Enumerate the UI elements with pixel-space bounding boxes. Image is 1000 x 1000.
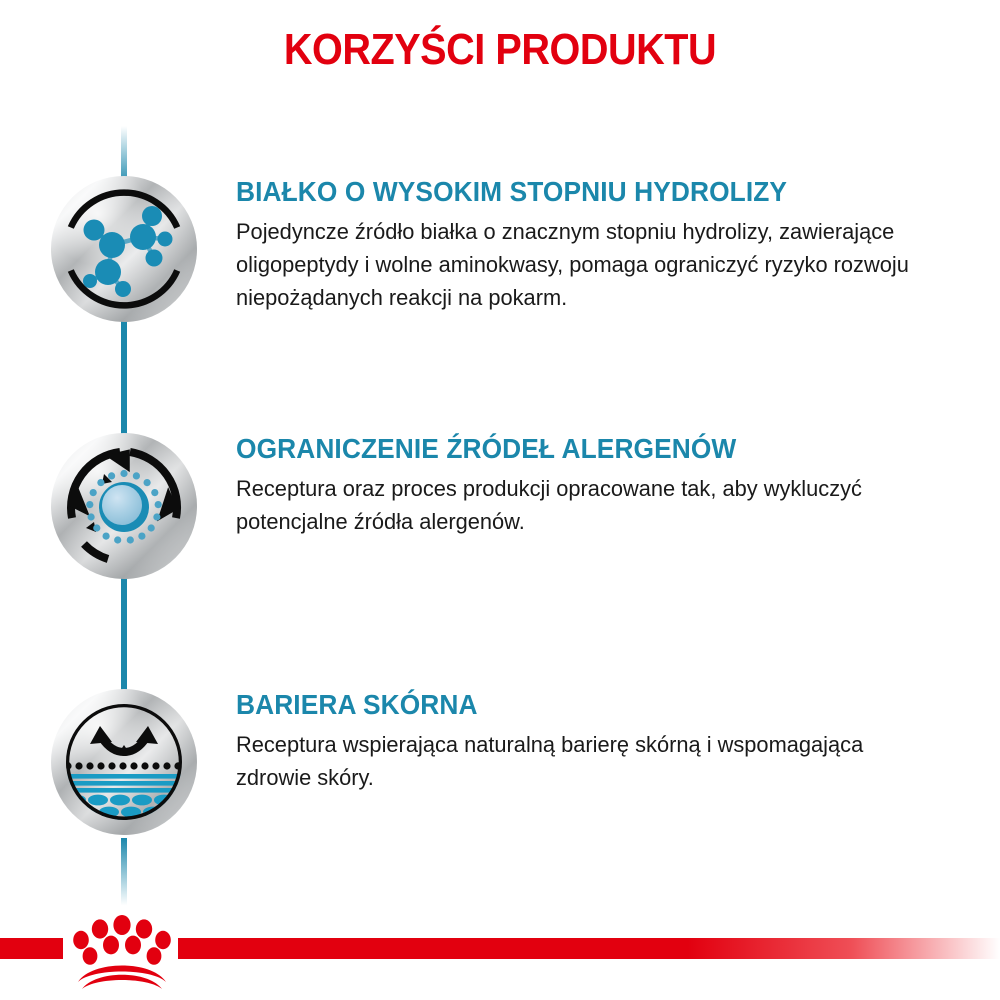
benefit-text-2: OGRANICZENIE ŹRÓDEŁ ALERGENÓW Receptura …	[236, 432, 960, 538]
molecule-icon	[50, 175, 198, 323]
footer-bar-right	[178, 938, 1000, 959]
connector-line-1	[121, 318, 127, 446]
benefit-heading-1: BIAŁKO O WYSOKIM STOPNIU HYDROLIZY	[236, 175, 917, 209]
benefit-text-1: BIAŁKO O WYSOKIM STOPNIU HYDROLIZY Pojed…	[236, 175, 960, 314]
royal-canin-crown-logo	[66, 912, 178, 990]
skin-barrier-icon	[50, 688, 198, 836]
page-title: KORZYŚCI PRODUKTU	[50, 24, 950, 76]
connector-line-2	[121, 578, 127, 703]
connector-line-bottom	[121, 838, 127, 913]
benefit-heading-2: OGRANICZENIE ŹRÓDEŁ ALERGENÓW	[236, 432, 917, 466]
allergen-reduction-icon	[50, 432, 198, 580]
benefit-body-3: Receptura wspierająca naturalną barierę …	[236, 728, 927, 794]
footer-bar-left	[0, 938, 63, 959]
benefit-heading-3: BARIERA SKÓRNA	[236, 688, 917, 722]
benefit-body-1: Pojedyncze źródło białka o znacznym stop…	[236, 215, 927, 314]
product-benefits-page: KORZYŚCI PRODUKTU	[0, 0, 1000, 1000]
benefit-body-2: Receptura oraz proces produkcji opracowa…	[236, 472, 927, 538]
benefit-text-3: BARIERA SKÓRNA Receptura wspierająca nat…	[236, 688, 960, 794]
